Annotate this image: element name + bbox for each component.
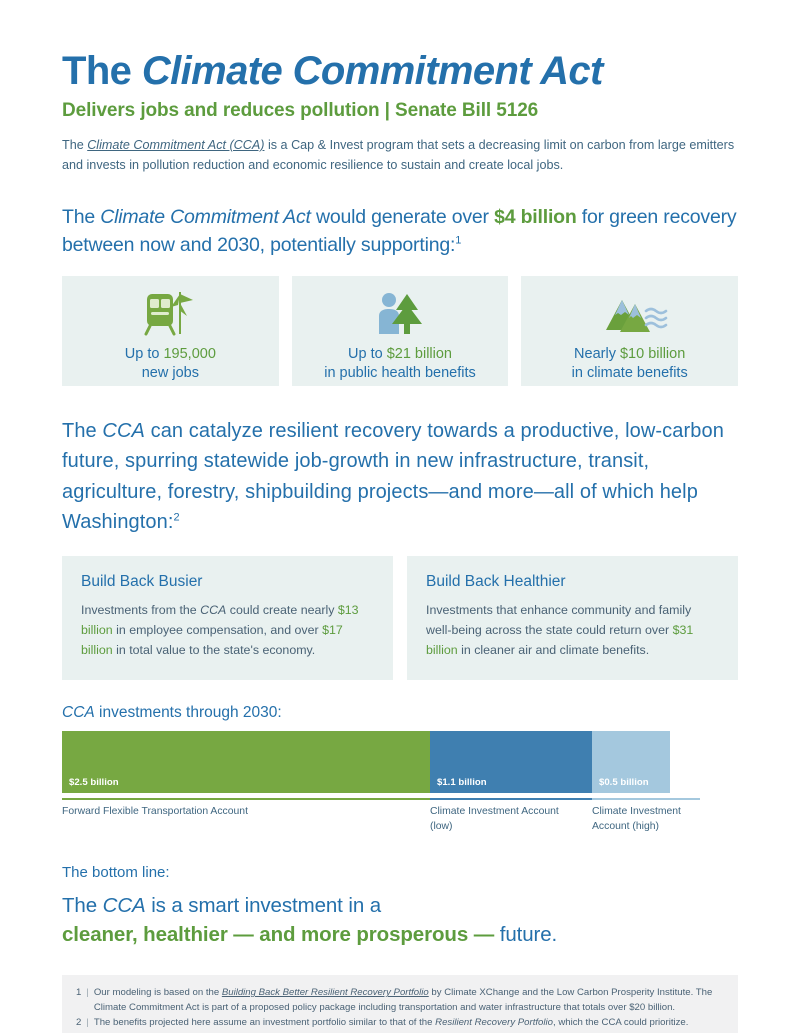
footnote-2-divider: | (86, 1015, 89, 1030)
box1-body: Investments that enhance community and f… (426, 600, 719, 660)
bigpara-b: can catalyze resilient recovery towards … (62, 420, 724, 534)
card0-line2: new jobs (125, 364, 216, 383)
header: The Climate Commitment Act Delivers jobs… (62, 0, 738, 176)
bar-labels: Forward Flexible Transportation Account … (62, 798, 738, 834)
box0-c: in employee compensation, and over (113, 623, 322, 637)
box0-b: could create nearly (226, 603, 338, 617)
box0-heading: Build Back Busier (81, 573, 374, 591)
benefit-card-health: Up to $21 billion in public health benef… (292, 276, 509, 386)
title-emphasis: Climate Commitment Act (142, 49, 603, 93)
title-lead: The (62, 49, 142, 93)
box0-d: in total value to the state's economy. (113, 643, 316, 657)
bottom-line-statement: The CCA is a smart investment in a clean… (62, 891, 738, 949)
chart-title: CCA investments through 2030: (62, 704, 738, 722)
lead-b: would generate over (311, 206, 494, 228)
detail-boxes: Build Back Busier Investments from the C… (62, 556, 738, 680)
bar-segment-climate-low: $1.1 billion (430, 731, 592, 793)
bottom-line-section: The bottom line: The CCA is a smart inve… (62, 864, 738, 949)
bar-segment-climate-high: $0.5 billion (592, 731, 670, 793)
card0-line1-value: 195,000 (163, 346, 215, 362)
bar-label-climate-low: Climate Investment Account (low) (430, 798, 592, 834)
person-tree-icon (365, 286, 435, 338)
box-build-back-busier: Build Back Busier Investments from the C… (62, 556, 393, 680)
chart-title-rest: investments through 2030: (95, 704, 282, 721)
lead-statement: The Climate Commitment Act would generat… (62, 204, 738, 260)
chart-title-em: CCA (62, 704, 95, 721)
bigpara-a: The (62, 420, 102, 442)
footnote-2-a: The benefits projected here assume an in… (94, 1017, 435, 1028)
footnote-1-a: Our modeling is based on the (94, 987, 222, 998)
bar-segment-transportation-value: $2.5 billion (69, 777, 119, 788)
benefit-card-climate: Nearly $10 billion in climate benefits (521, 276, 738, 386)
box1-b: in cleaner air and climate benefits. (458, 643, 649, 657)
infographic-page: The Climate Commitment Act Delivers jobs… (0, 0, 800, 1033)
bar-label-climate-high: Climate Investment Account (high) (592, 798, 700, 834)
box-build-back-healthier: Build Back Healthier Investments that en… (407, 556, 738, 680)
footnote-1-text: Our modeling is based on the Building Ba… (94, 985, 724, 1015)
footnote-2-number: 2 (76, 1015, 81, 1030)
bl-a: The (62, 894, 103, 917)
lead-footnote-marker: 1 (455, 234, 461, 246)
benefit-card-jobs: Up to 195,000 new jobs (62, 276, 279, 386)
lead-amount: $4 billion (494, 206, 577, 228)
bl-c: future. (494, 923, 557, 946)
page-subtitle: Delivers jobs and reduces pollution | Se… (62, 100, 738, 122)
catalyze-statement: The CCA can catalyze resilient recovery … (62, 416, 738, 538)
intro-text-a: The (62, 138, 87, 152)
bottom-line-kicker: The bottom line: (62, 864, 738, 881)
stacked-bar: $2.5 billion $1.1 billion $0.5 billion (62, 731, 738, 793)
footnote-1-link[interactable]: Building Back Better Resilient Recovery … (222, 987, 429, 998)
bigpara-emphasis: CCA (102, 420, 145, 442)
mountains-water-icon (588, 286, 672, 338)
investments-chart: CCA investments through 2030: $2.5 billi… (62, 704, 738, 834)
footnotes: 1 | Our modeling is based on the Buildin… (62, 975, 738, 1033)
bl-b: is a smart investment in a (146, 894, 381, 917)
footnote-2-b: , which the CCA could prioritize. (553, 1017, 688, 1028)
benefit-card-climate-text: Nearly $10 billion in climate benefits (572, 345, 688, 383)
page-title: The Climate Commitment Act (62, 50, 738, 92)
card1-line2: in public health benefits (324, 364, 476, 383)
bar-segment-climate-high-value: $0.5 billion (599, 777, 649, 788)
card2-line1a: Nearly (574, 346, 620, 362)
box0-a: Investments from the (81, 603, 200, 617)
card2-line2: in climate benefits (572, 364, 688, 383)
bl-green: cleaner, healthier — and more prosperous… (62, 923, 494, 946)
card1-line1a: Up to (348, 346, 387, 362)
footnote-1-number: 1 (76, 985, 81, 1015)
footnote-2-em: Resilient Recovery Portfolio (435, 1017, 553, 1028)
box0-em: CCA (200, 603, 226, 617)
bl-em: CCA (103, 894, 146, 917)
footnote-2: 2 | The benefits projected here assume a… (76, 1015, 724, 1030)
card1-line1-value: $21 billion (387, 346, 452, 362)
transit-windturbine-icon (135, 286, 205, 338)
box0-body: Investments from the CCA could create ne… (81, 600, 374, 660)
intro-link[interactable]: Climate Commitment Act (CCA) (87, 138, 264, 152)
benefit-card-health-text: Up to $21 billion in public health benef… (324, 345, 476, 383)
lead-emphasis: Climate Commitment Act (100, 206, 311, 228)
bar-segment-transportation: $2.5 billion (62, 731, 430, 793)
lead-a: The (62, 206, 100, 228)
benefit-cards: Up to 195,000 new jobs Up to $21 billion (62, 276, 738, 386)
card0-line1a: Up to (125, 346, 164, 362)
card2-line1-value: $10 billion (620, 346, 685, 362)
footnote-2-text: The benefits projected here assume an in… (94, 1015, 689, 1030)
box1-heading: Build Back Healthier (426, 573, 719, 591)
footnote-1: 1 | Our modeling is based on the Buildin… (76, 985, 724, 1015)
intro-paragraph: The Climate Commitment Act (CCA) is a Ca… (62, 135, 738, 176)
bigpara-footnote-marker: 2 (174, 512, 180, 524)
footnote-1-divider: | (86, 985, 89, 1015)
bar-segment-climate-low-value: $1.1 billion (437, 777, 487, 788)
bar-label-transportation: Forward Flexible Transportation Account (62, 798, 430, 834)
benefit-card-jobs-text: Up to 195,000 new jobs (125, 345, 216, 383)
box1-a: Investments that enhance community and f… (426, 603, 691, 637)
